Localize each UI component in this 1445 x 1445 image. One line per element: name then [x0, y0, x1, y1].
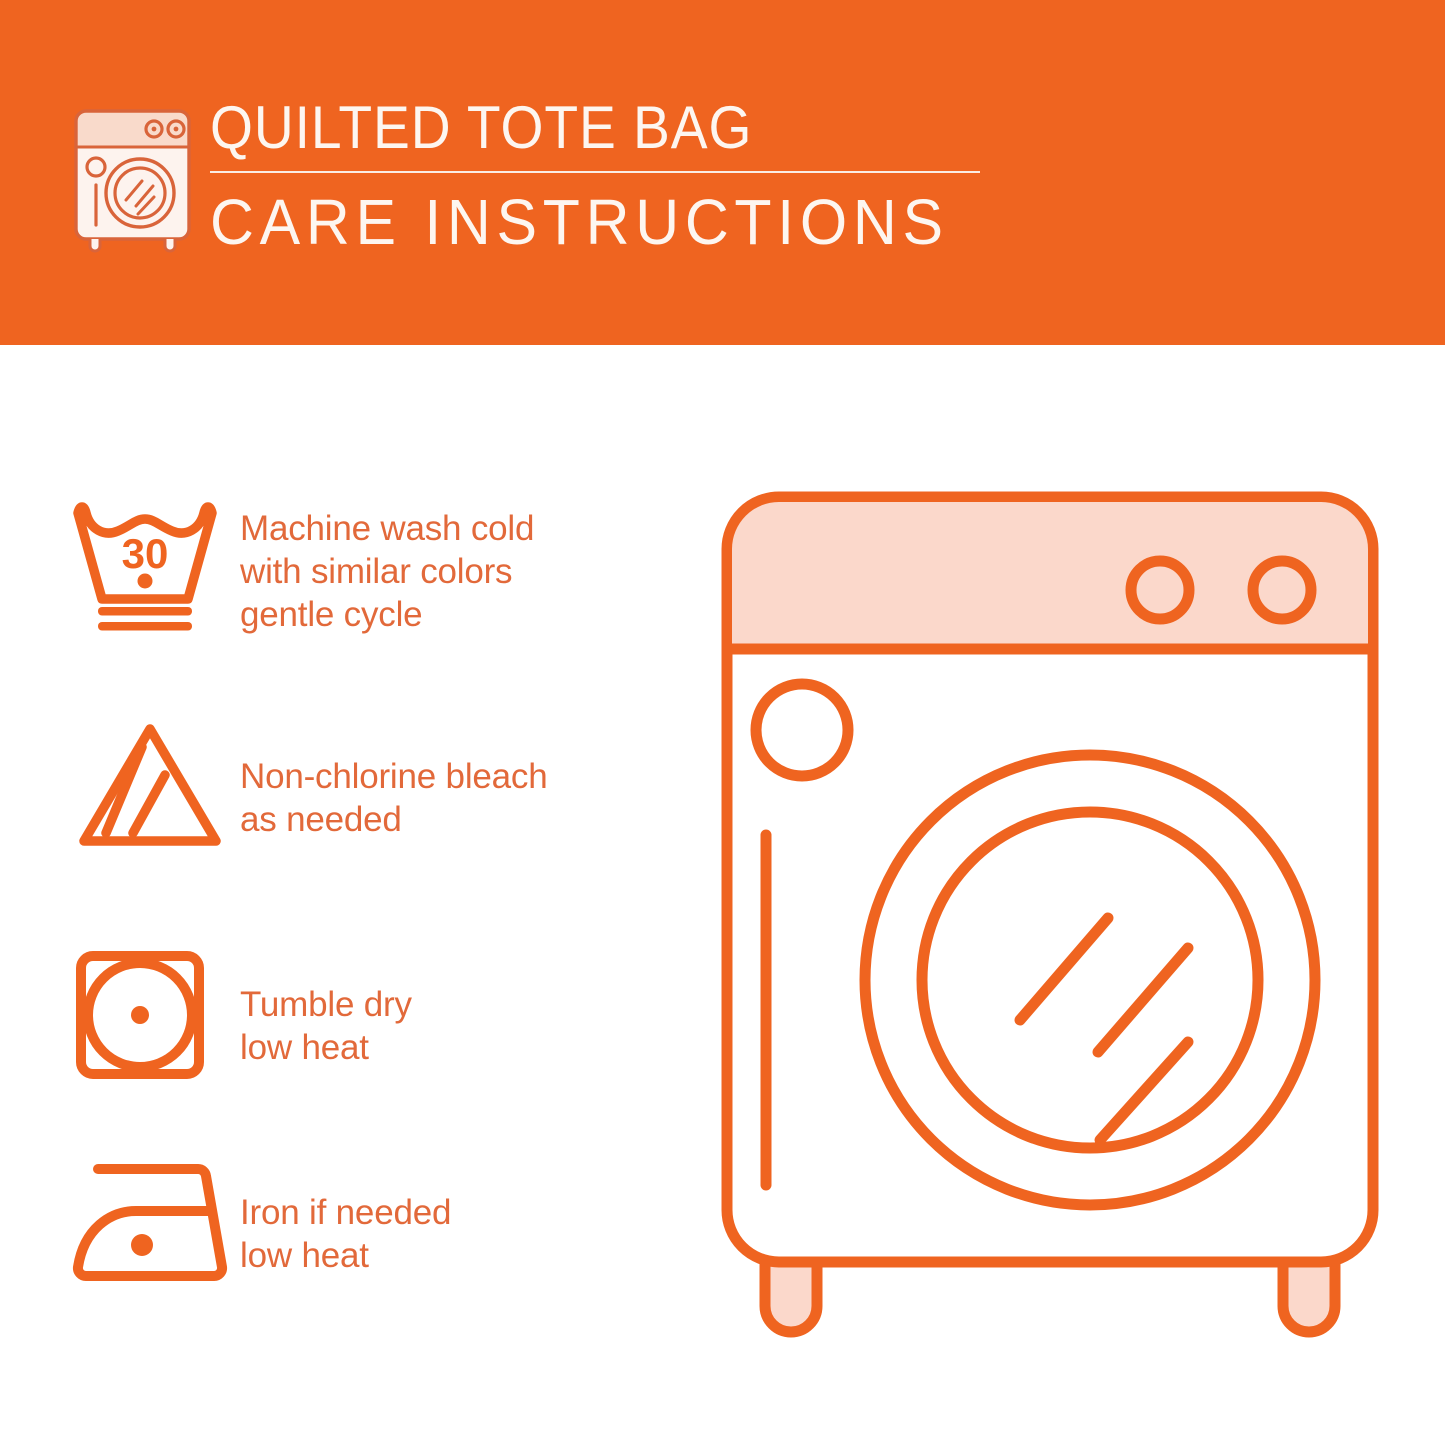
iron-low-heat-icon: [70, 1155, 240, 1285]
knob-right: [1253, 561, 1311, 619]
product-title: QUILTED TOTE BAG: [210, 95, 983, 161]
washing-machine-icon: [70, 105, 195, 253]
care-text-iron: Iron if needed low heat: [240, 1155, 690, 1277]
care-instruction-list: 30 Machine wash cold with similar colors…: [0, 345, 700, 1445]
care-row-iron: Iron if needed low heat: [70, 1155, 690, 1285]
care-text-wash: Machine wash cold with similar colors ge…: [240, 495, 690, 636]
care-text-bleach: Non-chlorine bleach as needed: [240, 715, 690, 841]
header-band: QUILTED TOTE BAG CARE INSTRUCTIONS: [0, 0, 1445, 345]
care-text-tumble-dry: Tumble dry low heat: [240, 945, 690, 1069]
header-title-block: QUILTED TOTE BAG CARE INSTRUCTIONS: [210, 95, 1050, 257]
care-row-bleach: Non-chlorine bleach as needed: [70, 715, 690, 855]
wash-tub-30-icon: 30: [70, 495, 240, 635]
tumble-dry-low-icon: [70, 945, 240, 1085]
large-washing-machine-illustration: [710, 480, 1390, 1370]
care-row-wash: 30 Machine wash cold with similar colors…: [70, 495, 690, 636]
header-content: QUILTED TOTE BAG CARE INSTRUCTIONS: [70, 95, 1020, 270]
care-row-tumble-dry: Tumble dry low heat: [70, 945, 690, 1085]
care-instructions-page: QUILTED TOTE BAG CARE INSTRUCTIONS 30: [0, 0, 1445, 1445]
svg-text:30: 30: [122, 530, 169, 577]
page-title: CARE INSTRUCTIONS: [210, 187, 1008, 257]
title-divider: [210, 171, 980, 173]
knob-left: [1131, 561, 1189, 619]
non-chlorine-bleach-triangle-icon: [70, 715, 240, 855]
